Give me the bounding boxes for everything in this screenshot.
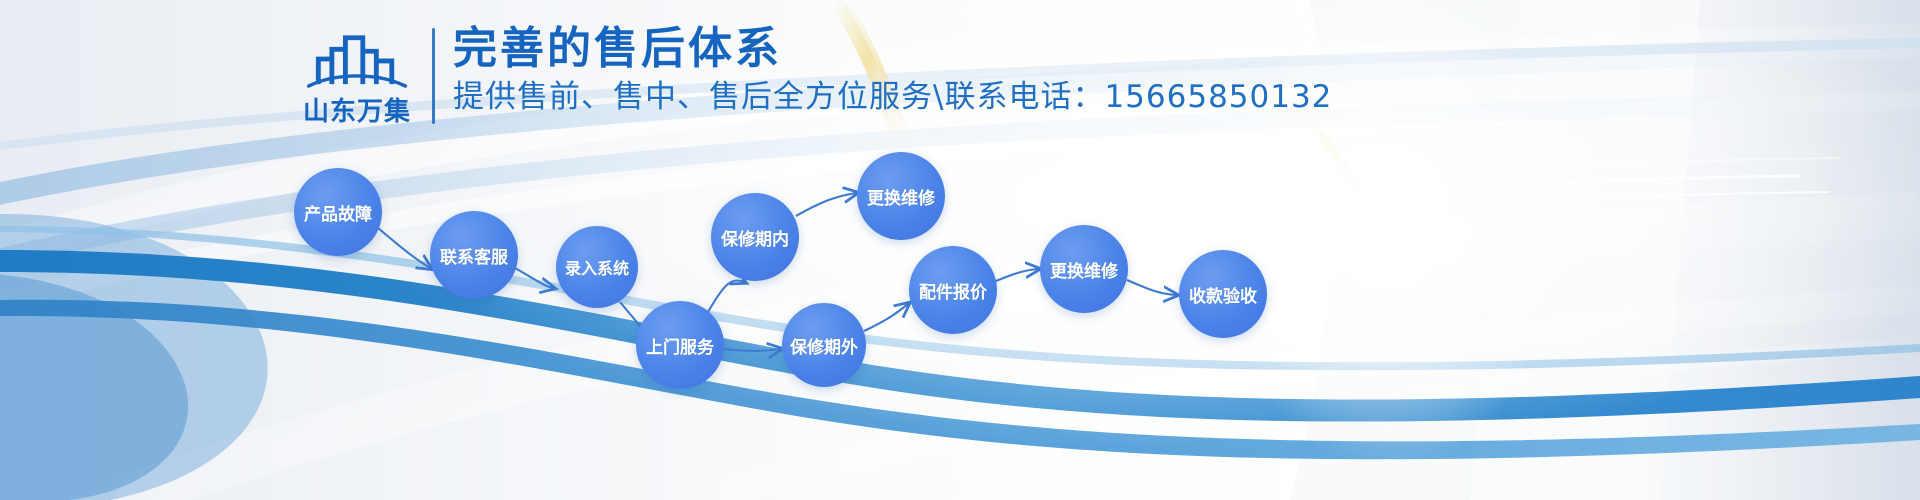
flow-node-n4[interactable]: 上门服务 — [636, 301, 724, 389]
flow-node-n3[interactable]: 录入系统 — [556, 226, 638, 308]
flow-node-label: 保修期内 — [721, 225, 789, 250]
flow-node-label: 收款验收 — [1189, 282, 1257, 307]
flow-node-n10[interactable]: 收款验收 — [1179, 250, 1267, 338]
edge-n2-n3 — [515, 268, 553, 288]
edge-n1-n2 — [378, 228, 430, 268]
flow-node-n9[interactable]: 更换维修 — [1040, 225, 1128, 313]
edge-n6-n8 — [864, 304, 908, 331]
flow-node-n1[interactable]: 产品故障 — [294, 168, 382, 256]
flow-node-n7[interactable]: 更换维修 — [857, 152, 945, 240]
flow-node-n5[interactable]: 保修期内 — [711, 193, 799, 281]
flow-node-label: 联系客服 — [440, 243, 508, 268]
flow-node-n8[interactable]: 配件报价 — [909, 246, 997, 334]
flow-node-label: 产品故障 — [304, 200, 372, 225]
edge-n4-n6 — [724, 349, 780, 351]
edge-n4-n5 — [708, 280, 744, 312]
edge-n5-n7 — [796, 193, 856, 216]
flow-node-label: 更换维修 — [867, 184, 935, 209]
after-sales-service-banner: 山东万集 完善的售后体系 提供售前、售中、售后全方位服务\联系电话：156658… — [0, 0, 1920, 500]
edge-n8-n9 — [996, 269, 1038, 281]
flow-node-label: 录入系统 — [565, 255, 629, 279]
flow-node-n2[interactable]: 联系客服 — [430, 211, 518, 299]
flow-node-label: 更换维修 — [1050, 257, 1118, 282]
flow-node-label: 上门服务 — [646, 333, 714, 358]
flow-node-label: 配件报价 — [919, 278, 987, 303]
edge-n9-n10 — [1127, 280, 1176, 295]
flow-node-n6[interactable]: 保修期外 — [782, 303, 866, 387]
flow-node-label: 保修期外 — [790, 333, 858, 358]
